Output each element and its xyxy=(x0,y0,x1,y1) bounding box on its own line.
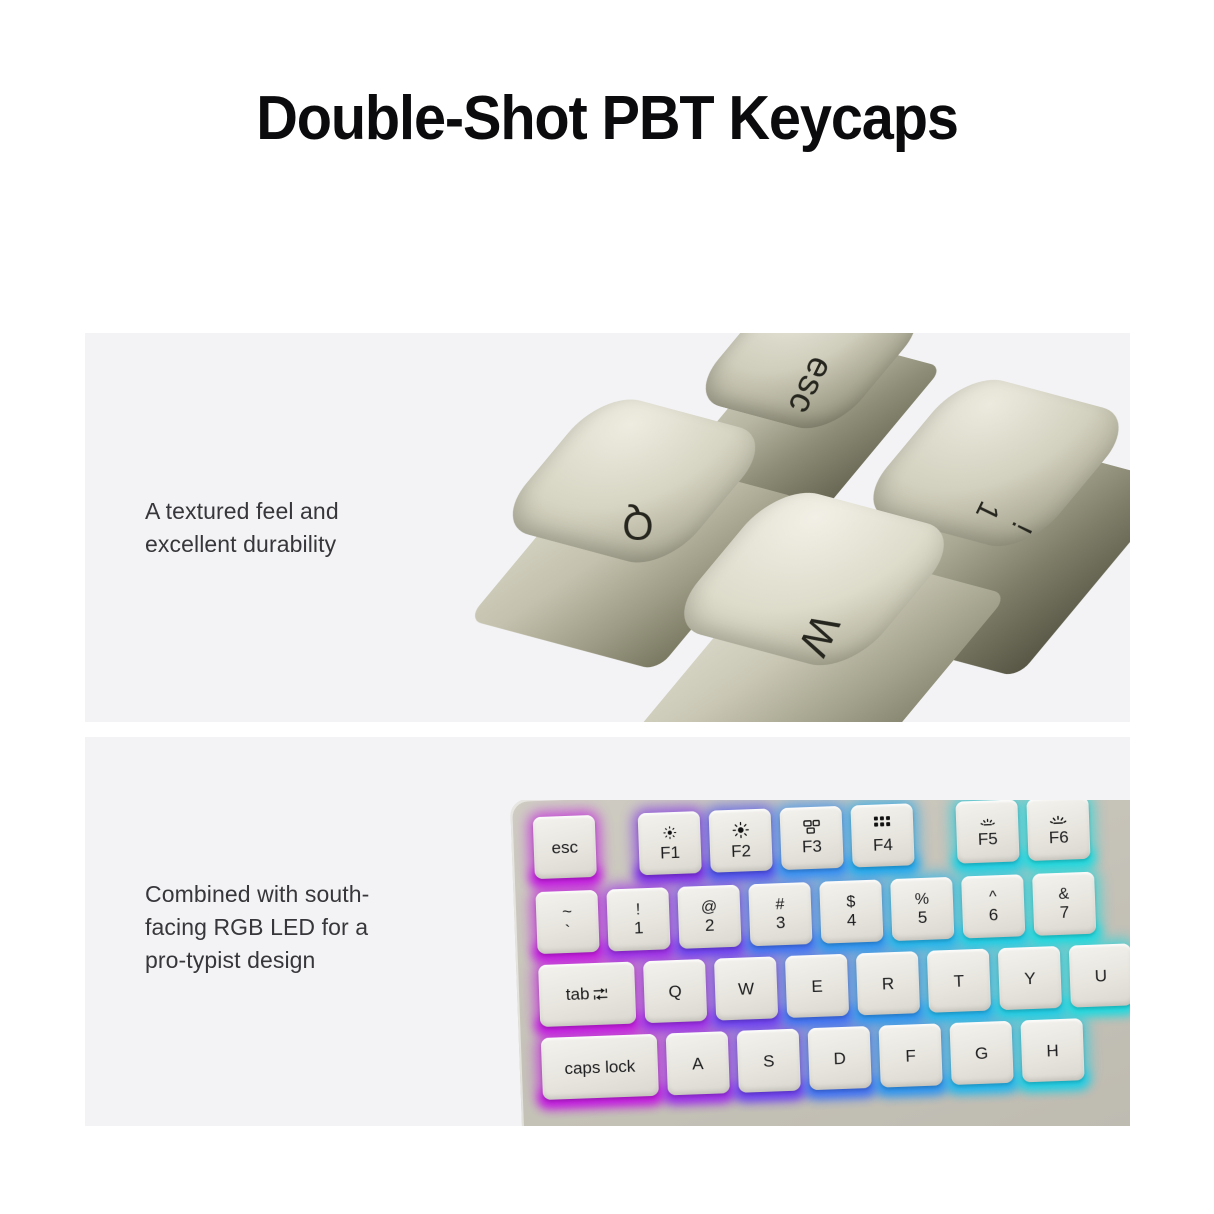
key-label: tab xyxy=(565,984,608,1006)
keyboard-row-number-row: ~`!1@2#3$4%5^6&7 xyxy=(535,867,1130,955)
mission-control-icon xyxy=(802,820,820,835)
tab-arrows-icon xyxy=(593,987,608,1001)
keycap-cluster-photo: esc Q ! 1 W xyxy=(515,333,1130,722)
key-label-shifted: @ xyxy=(701,898,718,916)
keyboard-key-e[interactable]: E xyxy=(785,954,849,1018)
keyboard-key-7[interactable]: &7 xyxy=(1032,872,1096,936)
key-label: F4 xyxy=(873,835,894,855)
key-label: Q xyxy=(668,981,682,1000)
keyboard-key-3[interactable]: #3 xyxy=(748,882,812,946)
key-label: 7 xyxy=(1059,903,1069,922)
keyboard-key-2[interactable]: @2 xyxy=(677,885,741,949)
launchpad-icon xyxy=(874,816,891,833)
key-label: F1 xyxy=(660,842,681,862)
keyboard-key-f4[interactable]: F4 xyxy=(850,803,914,867)
keyboard-key-h[interactable]: H xyxy=(1020,1018,1084,1082)
keyboard-key-tilde[interactable]: ~` xyxy=(535,890,599,954)
keyboard-key-esc[interactable]: esc xyxy=(533,815,597,879)
feature-panel-rgb-led: Combined with south- facing RGB LED for … xyxy=(85,737,1130,1126)
key-label: S xyxy=(763,1051,775,1070)
key-label: T xyxy=(953,971,964,990)
keyboard-row-function-row: escF1F2F3F4F5F6 xyxy=(533,800,1130,879)
keyboard-key-4[interactable]: $4 xyxy=(819,879,883,943)
keyboard-key-s[interactable]: S xyxy=(737,1029,801,1093)
key-label: G xyxy=(975,1043,989,1062)
panel-caption-rgb-led: Combined with south- facing RGB LED for … xyxy=(145,878,369,977)
key-label: F6 xyxy=(1048,827,1069,847)
key-label: H xyxy=(1046,1041,1059,1060)
keyboard-frame: escF1F2F3F4F5F6~`!1@2#3$4%5^6&7tabQWERTY… xyxy=(510,800,1130,1126)
keyboard-key-a[interactable]: A xyxy=(666,1031,730,1095)
keyboard-key-capslock[interactable]: caps lock xyxy=(541,1034,659,1100)
key-label-shifted: $ xyxy=(846,893,856,910)
key-label: W xyxy=(738,979,755,999)
key-label: 4 xyxy=(847,910,857,929)
key-label-shifted: & xyxy=(1058,886,1069,903)
key-label: E xyxy=(811,976,823,995)
key-label: 6 xyxy=(988,905,998,924)
keyboard-key-y[interactable]: Y xyxy=(998,946,1062,1010)
keyboard-rgb-photo: escF1F2F3F4F5F6~`!1@2#3$4%5^6&7tabQWERTY… xyxy=(510,800,1130,1126)
feature-panel-textured-feel: A textured feel and excellent durability… xyxy=(85,333,1130,722)
brightness-down-icon xyxy=(662,824,678,840)
key-label: A xyxy=(692,1054,704,1073)
key-label: R xyxy=(881,974,894,993)
key-label: Y xyxy=(1024,968,1036,987)
key-label: 1 xyxy=(634,918,644,937)
keyboard-key-f3[interactable]: F3 xyxy=(779,806,843,870)
keyboard-key-d[interactable]: D xyxy=(808,1026,872,1090)
panel-caption-textured-feel: A textured feel and excellent durability xyxy=(145,495,339,561)
keyboard-key-f5[interactable]: F5 xyxy=(955,800,1019,864)
key-label: F5 xyxy=(977,829,998,849)
keyboard-key-t[interactable]: T xyxy=(927,949,991,1013)
key-label: F2 xyxy=(731,841,752,861)
keyboard-key-tab[interactable]: tab xyxy=(538,962,636,1027)
key-label-shifted: # xyxy=(775,896,785,913)
keyboard-key-f1[interactable]: F1 xyxy=(638,811,702,875)
key-label: F3 xyxy=(802,837,823,857)
key-label: 3 xyxy=(776,913,786,932)
keyboard-key-q[interactable]: Q xyxy=(643,959,707,1023)
keyboard-key-f2[interactable]: F2 xyxy=(709,808,773,872)
key-label-shifted: ! xyxy=(636,901,641,918)
key-label-shifted: ^ xyxy=(989,888,997,905)
backlight-up-icon xyxy=(1049,811,1067,825)
keyboard-key-1[interactable]: !1 xyxy=(606,887,670,951)
key-label: U xyxy=(1094,966,1107,985)
keyboard-key-6[interactable]: ^6 xyxy=(961,874,1025,938)
keyboard-key-5[interactable]: %5 xyxy=(890,877,954,941)
page-title: Double-Shot PBT Keycaps xyxy=(42,83,1171,155)
key-label: ` xyxy=(565,922,571,941)
key-label: caps lock xyxy=(564,1056,636,1078)
key-label: esc xyxy=(551,837,578,857)
keyboard-key-w[interactable]: W xyxy=(714,956,778,1020)
key-label: D xyxy=(833,1048,846,1067)
key-label: 5 xyxy=(918,908,928,927)
keyboard-key-f[interactable]: F xyxy=(879,1023,943,1087)
keyboard-key-f6[interactable]: F6 xyxy=(1026,800,1090,861)
keycap-w: W xyxy=(685,485,953,722)
keyboard-key-r[interactable]: R xyxy=(856,951,920,1015)
keyboard-key-g[interactable]: G xyxy=(949,1021,1013,1085)
key-label: 2 xyxy=(705,916,715,935)
keyboard-key-u[interactable]: U xyxy=(1069,943,1130,1007)
key-label: F xyxy=(905,1046,916,1065)
brightness-up-icon xyxy=(731,821,749,839)
backlight-down-icon xyxy=(978,814,995,827)
key-label-shifted: ~ xyxy=(562,903,573,920)
key-label-shifted: % xyxy=(914,891,929,909)
